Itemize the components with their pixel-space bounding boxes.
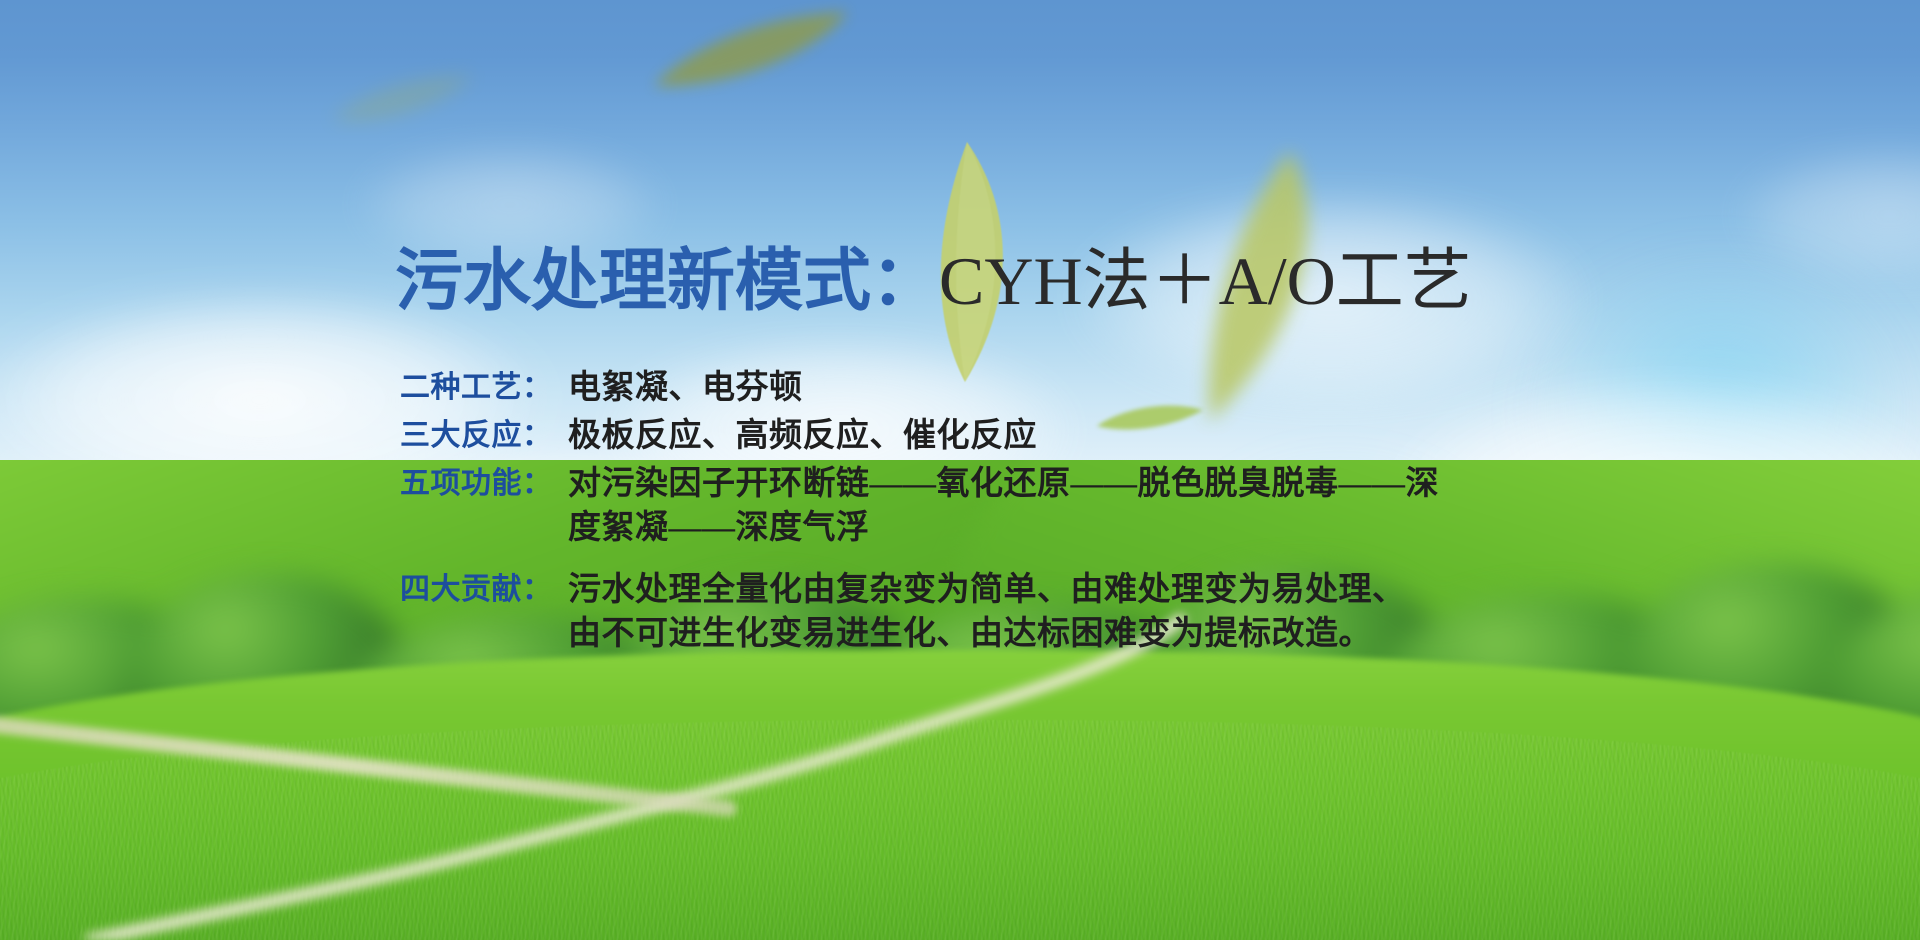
value-line: 度絮凝——深度气浮 [568, 506, 1580, 550]
title-rest: CYH法＋A/O工艺 [939, 243, 1472, 319]
value-line: 污水处理全量化由复杂变为简单、由难处理变为易处理、 [568, 568, 1580, 612]
list-item-label: 五项功能： [400, 462, 568, 506]
slide-canvas: 污水处理新模式：CYH法＋A/O工艺 二种工艺： 电絮凝、电芬顿 三大反应： 极… [0, 0, 1920, 940]
value-line: 对污染因子开环断链——氧化还原——脱色脱臭脱毒——深 [568, 462, 1580, 506]
value-line: 极板反应、高频反应、催化反应 [568, 414, 1580, 458]
slide-text-content: 污水处理新模式：CYH法＋A/O工艺 二种工艺： 电絮凝、电芬顿 三大反应： 极… [0, 0, 1920, 940]
feature-list: 二种工艺： 电絮凝、电芬顿 三大反应： 极板反应、高频反应、催化反应 五项功能：… [400, 366, 1580, 660]
list-item-label: 三大反应： [400, 414, 568, 458]
list-item-label: 四大贡献： [400, 568, 568, 612]
list-item-value: 极板反应、高频反应、催化反应 [568, 414, 1580, 458]
title-highlight: 污水处理新模式： [395, 243, 939, 319]
list-item: 五项功能： 对污染因子开环断链——氧化还原——脱色脱臭脱毒——深 度絮凝——深度… [400, 462, 1580, 550]
list-item-value: 污水处理全量化由复杂变为简单、由难处理变为易处理、 由不可进生化变易进生化、由达… [568, 568, 1580, 656]
list-item-label: 二种工艺： [400, 366, 568, 410]
list-item: 三大反应： 极板反应、高频反应、催化反应 [400, 414, 1580, 458]
list-item: 二种工艺： 电絮凝、电芬顿 [400, 366, 1580, 410]
list-item: 四大贡献： 污水处理全量化由复杂变为简单、由难处理变为易处理、 由不可进生化变易… [400, 568, 1580, 656]
list-item-value: 电絮凝、电芬顿 [568, 366, 1580, 410]
page-title: 污水处理新模式：CYH法＋A/O工艺 [395, 246, 1472, 317]
value-line: 由不可进生化变易进生化、由达标困难变为提标改造。 [568, 612, 1580, 656]
list-item-value: 对污染因子开环断链——氧化还原——脱色脱臭脱毒——深 度絮凝——深度气浮 [568, 462, 1580, 550]
value-line: 电絮凝、电芬顿 [568, 366, 1580, 410]
